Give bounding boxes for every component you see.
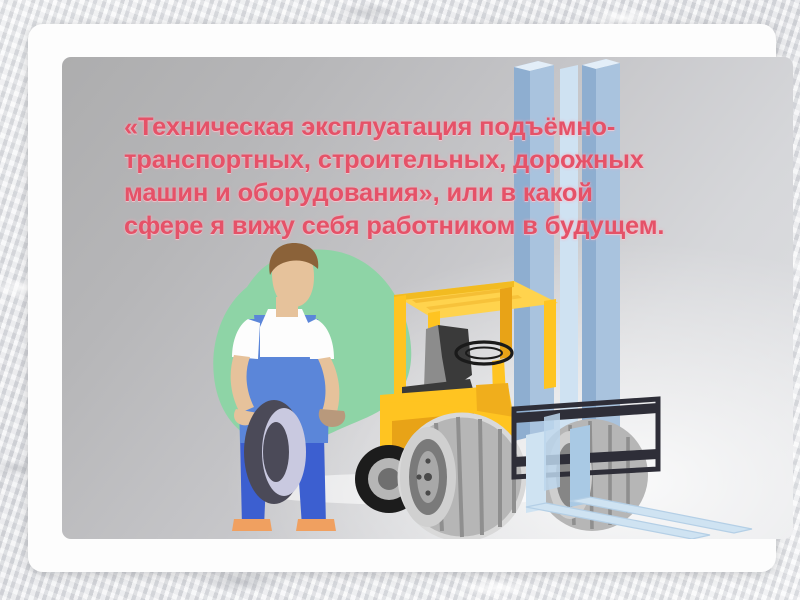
worker-shoe-left bbox=[232, 519, 272, 531]
worker-shoe-right bbox=[296, 519, 336, 531]
fork-upright-left bbox=[526, 431, 546, 513]
slide-card: «Техническая эксплуатация подъёмно- тран… bbox=[28, 24, 776, 572]
slide-stage: «Техническая эксплуатация подъёмно- тран… bbox=[0, 0, 800, 600]
fork-upright-right bbox=[570, 425, 590, 507]
canopy-post-front-right bbox=[544, 299, 556, 389]
forklift-front-wheel bbox=[400, 415, 524, 539]
slide-content-panel: «Техническая эксплуатация подъёмно- тран… bbox=[62, 57, 793, 539]
mast-inner-overlay bbox=[544, 413, 560, 491]
page-title: «Техническая эксплуатация подъёмно- тран… bbox=[124, 111, 739, 243]
